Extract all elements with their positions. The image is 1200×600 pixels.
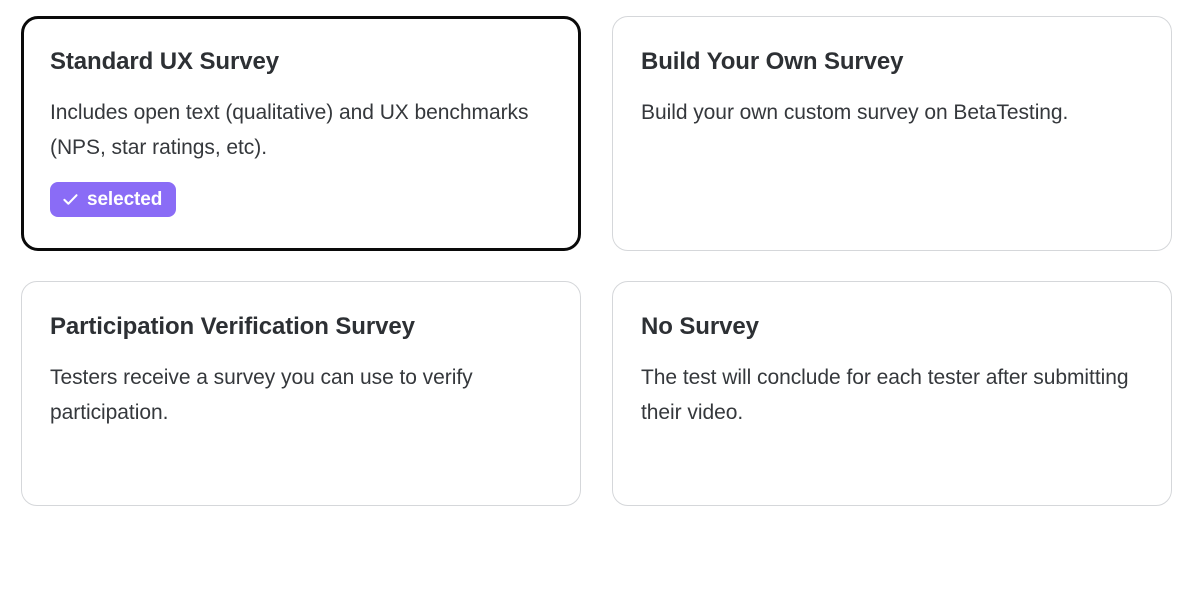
selected-badge[interactable]: selected	[50, 182, 176, 217]
survey-option-card-standard-ux-survey[interactable]: Standard UX Survey Includes open text (q…	[21, 16, 581, 251]
card-description: The test will conclude for each tester a…	[641, 361, 1141, 430]
card-description: Includes open text (qualitative) and UX …	[50, 96, 550, 165]
survey-options-grid: Standard UX Survey Includes open text (q…	[21, 16, 1172, 506]
survey-option-card-build-your-own-survey[interactable]: Build Your Own Survey Build your own cus…	[612, 16, 1172, 251]
selected-badge-label: selected	[87, 190, 162, 209]
card-title: Participation Verification Survey	[50, 312, 415, 342]
survey-option-card-no-survey[interactable]: No Survey The test will conclude for eac…	[612, 281, 1172, 506]
card-title: Build Your Own Survey	[641, 47, 903, 77]
check-icon	[62, 191, 79, 208]
card-description: Build your own custom survey on BetaTest…	[641, 96, 1068, 131]
survey-option-card-participation-verification-survey[interactable]: Participation Verification Survey Tester…	[21, 281, 581, 506]
card-title: Standard UX Survey	[50, 47, 279, 77]
card-description: Testers receive a survey you can use to …	[50, 361, 550, 430]
card-title: No Survey	[641, 312, 759, 342]
